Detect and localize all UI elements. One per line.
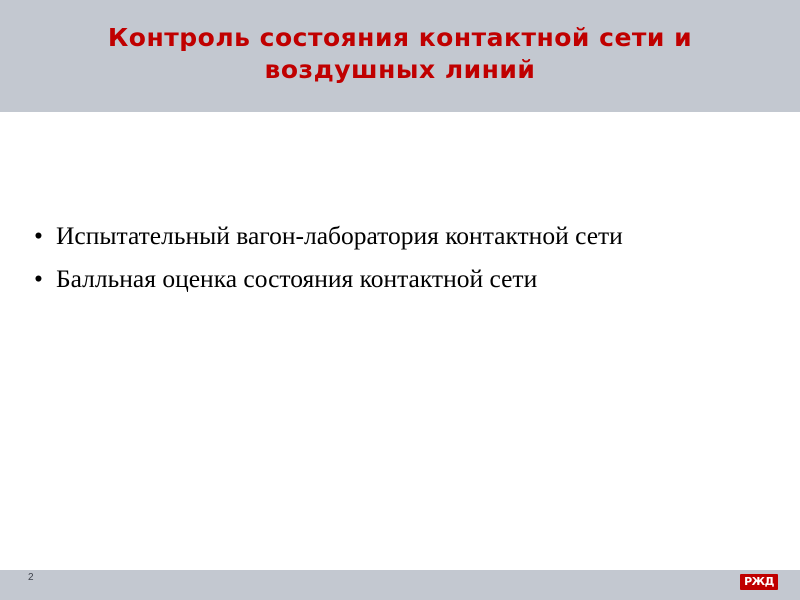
list-item: • Испытательный вагон-лаборатория контак…: [28, 220, 770, 253]
list-item: • Балльная оценка состояния контактной с…: [28, 263, 770, 296]
page-title: Контроль состояния контактной сети и воз…: [60, 22, 740, 86]
list-item-text: Балльная оценка состояния контактной сет…: [56, 264, 537, 293]
rzd-logo-text: РЖД: [740, 574, 778, 590]
list-item-text: Испытательный вагон-лаборатория контактн…: [56, 221, 623, 250]
bullet-marker-icon: •: [34, 263, 43, 296]
slide-body: • Испытательный вагон-лаборатория контак…: [0, 112, 800, 572]
bullet-marker-icon: •: [34, 220, 43, 253]
slide-number: 2: [28, 572, 34, 583]
footer-band: [0, 570, 800, 600]
bullet-list: • Испытательный вагон-лаборатория контак…: [28, 220, 770, 302]
slide: Контроль состояния контактной сети и воз…: [0, 0, 800, 600]
rzd-logo: РЖД: [740, 574, 778, 590]
